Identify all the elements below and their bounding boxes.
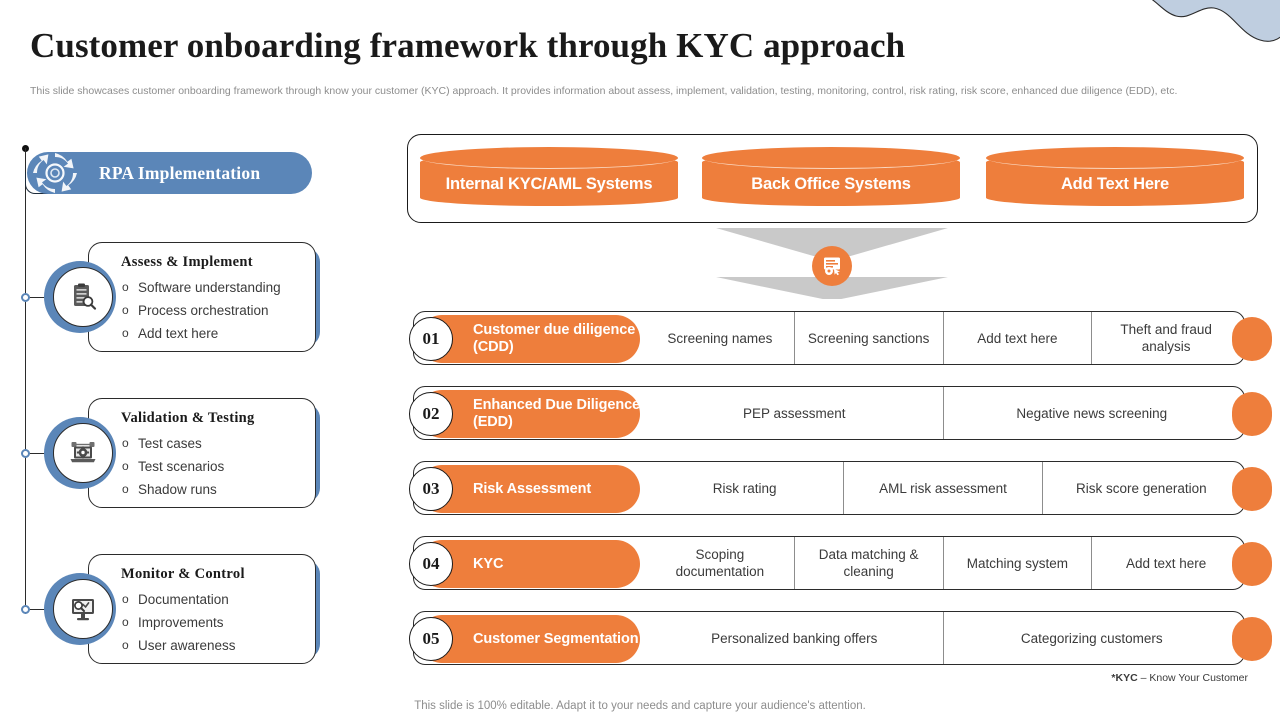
sidebar-header-label: RPA Implementation <box>99 163 260 184</box>
rpa-cycle-icon <box>30 150 80 196</box>
row-number-badge: 05 <box>409 617 453 661</box>
row-label: Customer Segmentation <box>473 631 638 648</box>
cylinder-add-text-here[interactable]: Add Text Here <box>986 147 1244 212</box>
kyc-footnote: *KYC – Know Your Customer <box>1111 672 1248 684</box>
row-pill: 04 KYC <box>418 540 640 588</box>
rail-node-2 <box>21 449 30 458</box>
row-cell[interactable]: Add text here <box>943 312 1092 364</box>
ring-face <box>53 267 113 327</box>
kyc-footnote-meaning: – Know Your Customer <box>1138 672 1248 684</box>
table-row[interactable]: 05 Customer Segmentation Personalized ba… <box>413 611 1245 665</box>
card-icon-ring <box>44 573 116 645</box>
row-number-badge: 03 <box>409 467 453 511</box>
sidebar-card-validation-testing[interactable]: Validation & Testing Test cases Test sce… <box>88 398 308 508</box>
card-body: Validation & Testing Test cases Test sce… <box>88 398 316 508</box>
document-gear-icon <box>820 254 844 278</box>
table-row[interactable]: 04 KYC Scoping documentation Data matchi… <box>413 536 1245 590</box>
list-item: Test scenarios <box>121 455 305 478</box>
list-item: Documentation <box>121 588 305 611</box>
list-item: Add text here <box>121 322 305 345</box>
cylinder-label: Back Office Systems <box>702 147 960 212</box>
row-cell[interactable]: Negative news screening <box>943 387 1241 439</box>
page-title: Customer onboarding framework through KY… <box>30 26 905 66</box>
row-label: KYC <box>473 556 503 573</box>
row-cell[interactable]: Screening sanctions <box>794 312 943 364</box>
card-body: Assess & Implement Software understandin… <box>88 242 316 352</box>
row-cell[interactable]: Categorizing customers <box>943 612 1241 664</box>
list-item: Shadow runs <box>121 478 305 501</box>
row-cell[interactable]: Personalized banking offers <box>646 612 943 664</box>
row-cell[interactable]: Risk score generation <box>1042 462 1240 514</box>
row-label: Customer due diligence (CDD) <box>473 322 640 356</box>
laptop-gear-icon <box>68 438 98 468</box>
row-cells: PEP assessment Negative news screening <box>646 387 1240 439</box>
card-bullet-list: Documentation Improvements User awarenes… <box>121 588 305 657</box>
list-item: Test cases <box>121 432 305 455</box>
sidebar-card-monitor-control[interactable]: Monitor & Control Documentation Improvem… <box>88 554 308 664</box>
cylinder-label: Add Text Here <box>986 147 1244 212</box>
list-item: User awareness <box>121 634 305 657</box>
card-title: Validation & Testing <box>121 410 305 427</box>
table-row[interactable]: 01 Customer due diligence (CDD) Screenin… <box>413 311 1245 365</box>
row-number-badge: 01 <box>409 317 453 361</box>
row-cell[interactable]: Scoping documentation <box>646 537 794 589</box>
row-cells: Scoping documentation Data matching & cl… <box>646 537 1240 589</box>
slide-canvas: Customer onboarding framework through KY… <box>0 0 1280 720</box>
rail-node-3 <box>21 605 30 614</box>
card-bullet-list: Test cases Test scenarios Shadow runs <box>121 432 305 501</box>
card-body: Monitor & Control Documentation Improvem… <box>88 554 316 664</box>
funnel-badge[interactable] <box>812 246 852 286</box>
table-row[interactable]: 02 Enhanced Due Diligence (EDD) PEP asse… <box>413 386 1245 440</box>
row-cell[interactable]: Add text here <box>1091 537 1240 589</box>
editable-note: This slide is 100% editable. Adapt it to… <box>0 700 1280 712</box>
row-label: Enhanced Due Diligence (EDD) <box>473 397 640 431</box>
row-number-badge: 02 <box>409 392 453 436</box>
cylinder-back-office[interactable]: Back Office Systems <box>702 147 960 212</box>
row-cell[interactable]: PEP assessment <box>646 387 943 439</box>
clipboard-search-icon <box>68 282 98 312</box>
table-row[interactable]: 03 Risk Assessment Risk rating AML risk … <box>413 461 1245 515</box>
list-item: Process orchestration <box>121 299 305 322</box>
source-systems-panel: Internal KYC/AML Systems Back Office Sys… <box>407 134 1258 223</box>
row-cells: Personalized banking offers Categorizing… <box>646 612 1240 664</box>
row-cell[interactable]: AML risk assessment <box>843 462 1041 514</box>
cylinder-internal-kyc-aml[interactable]: Internal KYC/AML Systems <box>420 147 678 212</box>
row-cell[interactable]: Screening names <box>646 312 794 364</box>
card-icon-ring <box>44 417 116 489</box>
row-pill: 05 Customer Segmentation <box>418 615 640 663</box>
row-cell[interactable]: Matching system <box>943 537 1092 589</box>
ring-face <box>53 579 113 639</box>
row-cell[interactable]: Data matching & cleaning <box>794 537 943 589</box>
monitor-search-icon <box>68 594 98 624</box>
list-item: Software understanding <box>121 276 305 299</box>
row-pill: 01 Customer due diligence (CDD) <box>418 315 640 363</box>
card-icon-ring <box>44 261 116 333</box>
cylinder-label: Internal KYC/AML Systems <box>420 147 678 212</box>
card-title: Monitor & Control <box>121 566 305 583</box>
card-title: Assess & Implement <box>121 254 305 271</box>
row-pill: 03 Risk Assessment <box>418 465 640 513</box>
row-cells: Risk rating AML risk assessment Risk sco… <box>646 462 1240 514</box>
row-label: Risk Assessment <box>473 481 591 498</box>
ring-face <box>53 423 113 483</box>
page-subtitle: This slide showcases customer onboarding… <box>30 84 1235 98</box>
kyc-footnote-abbr: *KYC <box>1111 672 1137 684</box>
list-item: Improvements <box>121 611 305 634</box>
row-cell[interactable]: Theft and fraud analysis <box>1091 312 1240 364</box>
rail-node-1 <box>21 293 30 302</box>
rail-connector-line <box>25 148 26 614</box>
row-cell[interactable]: Risk rating <box>646 462 843 514</box>
sidebar-card-assess-implement[interactable]: Assess & Implement Software understandin… <box>88 242 308 352</box>
row-cells: Screening names Screening sanctions Add … <box>646 312 1240 364</box>
row-pill: 02 Enhanced Due Diligence (EDD) <box>418 390 640 438</box>
corner-blob-decoration <box>1114 0 1280 74</box>
card-bullet-list: Software understanding Process orchestra… <box>121 276 305 345</box>
row-number-badge: 04 <box>409 542 453 586</box>
